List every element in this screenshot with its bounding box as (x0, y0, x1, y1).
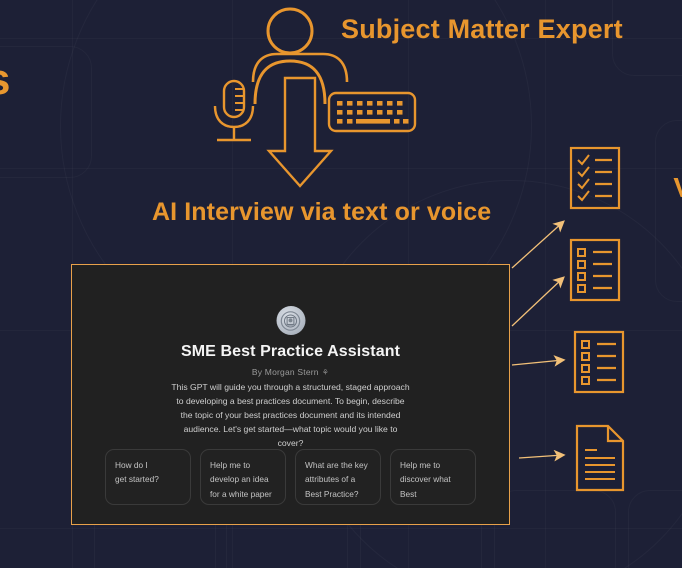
arrow-to-document-2 (512, 278, 563, 326)
section-title-ai-interview: AI Interview via text or voice (152, 198, 491, 227)
chip-line-2: discover what Best (400, 472, 466, 501)
suggestion-chip[interactable]: How do I get started? (105, 449, 191, 505)
suggestion-chip[interactable]: Help me to discover what Best Practices … (390, 449, 476, 505)
gpt-title: SME Best Practice Assistant (72, 343, 509, 361)
checklist-boxes-icon (573, 330, 625, 394)
chip-line-1: How do I (115, 458, 181, 472)
chip-line-2: attributes of a (305, 472, 371, 486)
keyboard-icon (327, 91, 417, 133)
checklist-checkmarks-icon (569, 146, 621, 210)
edge-text-right: V (673, 172, 682, 204)
gpt-seal-avatar (276, 306, 305, 335)
gpt-byline-text: By Morgan Stern (252, 367, 319, 377)
suggestion-chip[interactable]: Help me to develop an idea for a white p… (200, 449, 286, 505)
chip-line-1: What are the key (305, 458, 371, 472)
chip-line-3: for a white paper (210, 487, 276, 501)
suggestion-chip[interactable]: What are the key attributes of a Best Pr… (295, 449, 381, 505)
arrow-to-document-4 (519, 455, 563, 458)
chip-line-3: Best Practice? (305, 487, 371, 501)
gpt-byline: By Morgan Stern⚘ (72, 367, 509, 377)
gpt-preview-card: SME Best Practice Assistant By Morgan St… (71, 264, 510, 525)
arrow-to-document-1 (512, 222, 563, 268)
chip-line-2: develop an idea (210, 472, 276, 486)
checklist-squares-icon (569, 238, 621, 302)
seal-emblem-icon (280, 310, 302, 332)
chip-line-1: Help me to (400, 458, 466, 472)
edge-text-left: s (0, 55, 10, 105)
author-glyph-icon: ⚘ (322, 368, 329, 377)
chip-line-3: Practices I know (400, 501, 466, 505)
slide-canvas: s V Subject Matter Expert (0, 0, 682, 568)
gpt-description: This GPT will guide you through a struct… (170, 381, 411, 451)
chip-line-2: get started? (115, 472, 181, 486)
document-page-icon (575, 424, 625, 492)
chip-line-1: Help me to (210, 458, 276, 472)
arrow-to-document-3 (512, 360, 563, 365)
page-title-subject-matter-expert: Subject Matter Expert (341, 14, 623, 45)
suggestion-chip-list: How do I get started? Help me to develop… (105, 449, 476, 505)
